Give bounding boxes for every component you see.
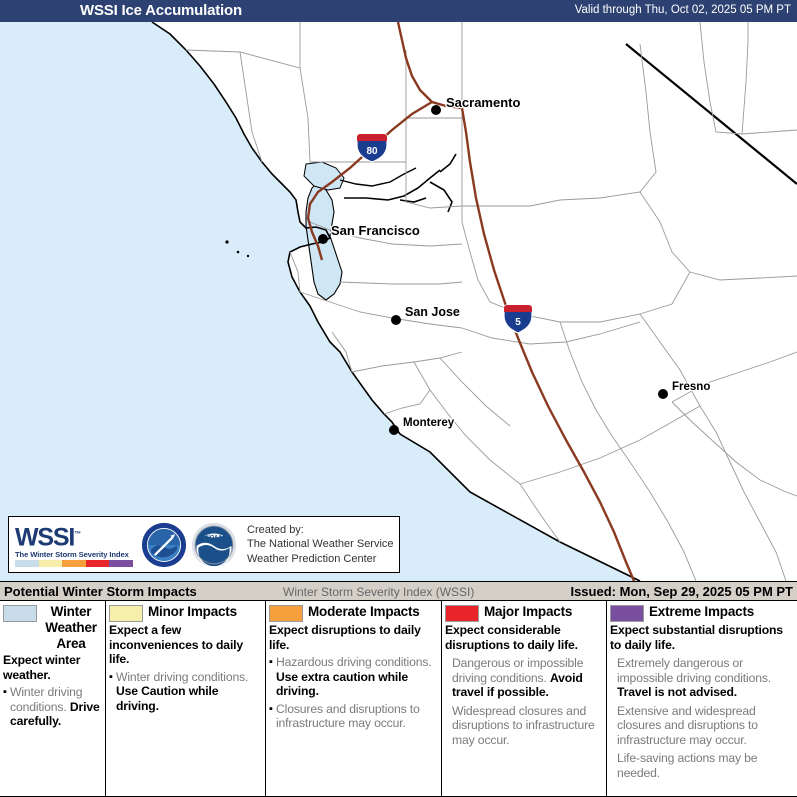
legend-lead-text: Expect considerable disruptions to daily… <box>445 623 602 652</box>
valid-through-text: Valid through Thu, Oct 02, 2025 05 PM PT <box>575 4 791 16</box>
color-swatch-extreme-impacts <box>610 605 644 622</box>
credit-line-1: Created by: <box>247 523 394 538</box>
bullet-icon: ▪ <box>109 670 116 714</box>
bullet-bold-text: Use extra caution while driving. <box>276 670 408 699</box>
issued-text: Issued: Mon, Sep 29, 2025 05 PM PT <box>570 584 793 599</box>
wssi-colorbar <box>15 560 133 567</box>
colorbar-seg-winter <box>15 560 39 567</box>
colorbar-seg-extreme <box>109 560 133 567</box>
header-bar: WSSI Ice Accumulation Valid through Thu,… <box>0 0 797 22</box>
color-swatch-major-impacts <box>445 605 479 622</box>
bullet-bold-text: Use Caution while driving. <box>116 684 218 713</box>
city-label-sacramento: Sacramento <box>446 95 520 110</box>
island-dot <box>237 251 240 254</box>
legend-column-winter-weather-area[interactable]: Winter Weather Area Expect winter weathe… <box>0 601 106 796</box>
legend-header: Moderate Impacts <box>269 604 437 622</box>
note-gray-text: Extremely dangerous or impossible drivin… <box>617 656 771 685</box>
legend-lead-text: Expect a few inconveniences to daily lif… <box>109 623 261 667</box>
bullet-icon: ▪ <box>269 655 276 699</box>
color-swatch-winter-weather-area <box>3 605 37 622</box>
bullet-gray-text: Closures and disruptions to infrastructu… <box>276 702 437 731</box>
national-weather-service-seal <box>141 522 187 568</box>
bullet-gray-text: Winter driving conditions. <box>116 670 248 684</box>
page-title: WSSI Ice Accumulation <box>80 2 242 19</box>
legend-column-minor-impacts[interactable]: Minor Impacts Expect a few inconvenience… <box>106 601 266 796</box>
wssi-tagline: The Winter Storm Severity Index <box>15 550 137 559</box>
legend-body: Expect a few inconveniences to daily lif… <box>109 623 261 713</box>
color-swatch-moderate-impacts <box>269 605 303 622</box>
color-swatch-minor-impacts <box>109 605 143 622</box>
wssi-wordmark: WSSI™ <box>15 522 137 550</box>
legend-header: Winter Weather Area <box>3 604 101 652</box>
city-dot-fresno <box>658 389 668 399</box>
legend-title-extreme-impacts: Extreme Impacts <box>649 604 754 620</box>
legend-body: Expect considerable disruptions to daily… <box>445 623 602 747</box>
wssi-map-page: WSSI Ice Accumulation Valid through Thu,… <box>0 0 797 797</box>
legend-body: Expect disruptions to daily life. ▪ Haza… <box>269 623 437 731</box>
svg-text:NOAA: NOAA <box>206 535 222 541</box>
legend-title-winter-weather-area: Winter Weather Area <box>42 604 100 652</box>
legend-bullet-item: ▪ Hazardous driving conditions. Use extr… <box>269 655 437 699</box>
legend-note-item: Life-saving actions may be needed. <box>610 751 793 780</box>
wssi-wordmark-text: WSSI <box>15 523 74 551</box>
legend-bullet-item: ▪ Winter driving conditions. Drive caref… <box>3 685 101 729</box>
city-dot-monterey <box>389 425 399 435</box>
impacts-subheader: Potential Winter Storm Impacts Winter St… <box>0 581 797 601</box>
legend-bullet-item: ▪ Closures and disruptions to infrastruc… <box>269 702 437 731</box>
credit-line-3: Weather Prediction Center <box>247 552 394 567</box>
island-dot <box>225 240 228 243</box>
colorbar-seg-minor <box>39 560 63 567</box>
island-dot <box>247 255 249 257</box>
attribution-panel: WSSI™ The Winter Storm Severity Index <box>8 516 400 573</box>
legend-note-item: Extremely dangerous or impossible drivin… <box>610 656 793 700</box>
wssi-logo: WSSI™ The Winter Storm Severity Index <box>15 522 137 567</box>
legend-lead-text: Expect winter weather. <box>3 653 101 682</box>
city-dot-sacramento <box>431 105 441 115</box>
legend-header: Minor Impacts <box>109 604 261 622</box>
svg-text:5: 5 <box>515 317 521 328</box>
svg-text:80: 80 <box>366 146 378 157</box>
legend-lead-text: Expect substantial disruptions to daily … <box>610 623 793 652</box>
legend-note-item: Widespread closures and disruptions to i… <box>445 704 602 748</box>
city-dot-san-francisco <box>318 234 328 244</box>
note-bold-text: Travel is not advised. <box>617 685 737 699</box>
bullet-gray-text: Hazardous driving conditions. <box>276 655 432 669</box>
trademark-icon: ™ <box>74 531 81 538</box>
city-label-san-jose: San Jose <box>405 305 460 319</box>
map-canvas[interactable]: 80 5 Sacramento San Francisco San Jose M… <box>0 22 797 581</box>
legend-bullet-item: ▪ Winter driving conditions. Use Caution… <box>109 670 261 714</box>
legend-column-moderate-impacts[interactable]: Moderate Impacts Expect disruptions to d… <box>266 601 442 796</box>
subheader-product-name: Winter Storm Severity Index (WSSI) <box>283 585 474 599</box>
colorbar-seg-major <box>86 560 110 567</box>
legend-title-moderate-impacts: Moderate Impacts <box>308 604 420 620</box>
city-label-san-francisco: San Francisco <box>331 223 420 238</box>
legend-header: Extreme Impacts <box>610 604 793 622</box>
legend-header: Major Impacts <box>445 604 602 622</box>
credit-block: Created by: The National Weather Service… <box>247 523 394 567</box>
bullet-icon: ▪ <box>269 702 276 731</box>
noaa-seal: NOAA <box>191 522 237 568</box>
city-label-fresno: Fresno <box>672 381 710 393</box>
map-graphic: 80 5 Sacramento San Francisco San Jose M… <box>0 22 797 581</box>
subheader-title: Potential Winter Storm Impacts <box>4 584 197 599</box>
legend-note-item: Dangerous or impossible driving conditio… <box>445 656 602 700</box>
city-dot-san-jose <box>391 315 401 325</box>
legend-title-minor-impacts: Minor Impacts <box>148 604 237 620</box>
legend-title-major-impacts: Major Impacts <box>484 604 572 620</box>
legend-column-major-impacts[interactable]: Major Impacts Expect considerable disrup… <box>442 601 607 796</box>
legend-body: Expect substantial disruptions to daily … <box>610 623 793 780</box>
legend-note-item: Extensive and widespread closures and di… <box>610 704 793 748</box>
legend-column-extreme-impacts[interactable]: Extreme Impacts Expect substantial disru… <box>607 601 797 796</box>
impacts-legend: Winter Weather Area Expect winter weathe… <box>0 601 797 797</box>
legend-lead-text: Expect disruptions to daily life. <box>269 623 437 652</box>
bullet-icon: ▪ <box>3 685 10 729</box>
legend-body: Expect winter weather. ▪ Winter driving … <box>3 653 101 729</box>
city-label-monterey: Monterey <box>403 417 455 429</box>
colorbar-seg-moderate <box>62 560 86 567</box>
credit-line-2: The National Weather Service <box>247 537 394 552</box>
